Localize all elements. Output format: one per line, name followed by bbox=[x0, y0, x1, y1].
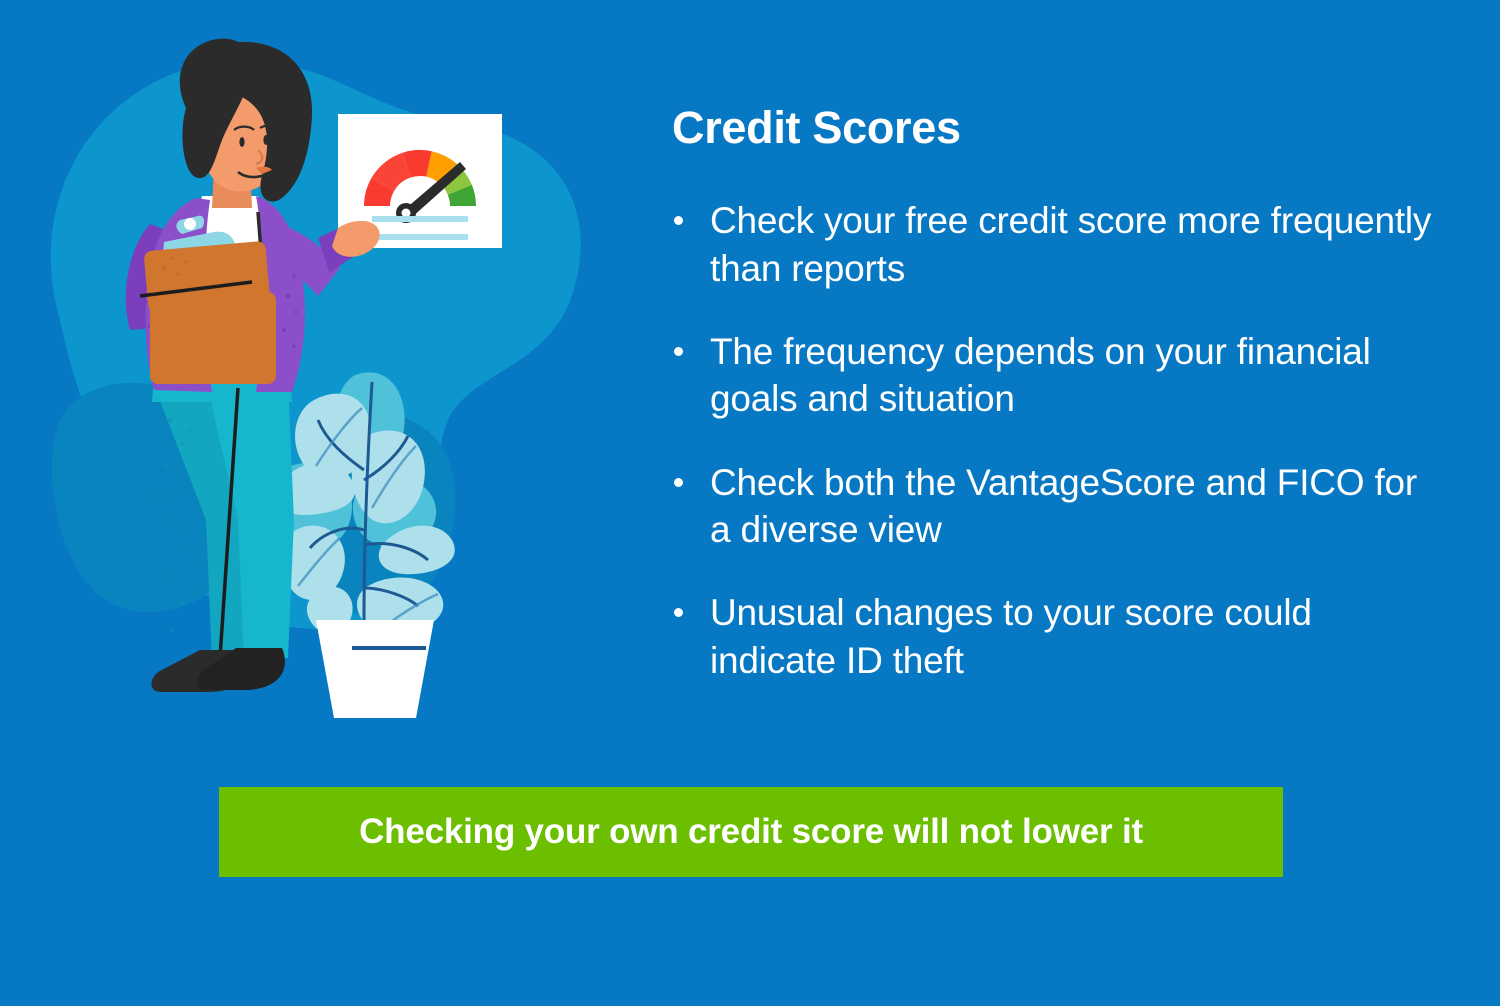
page-title: Credit Scores bbox=[672, 104, 1440, 151]
bullet-dot-icon bbox=[674, 478, 683, 487]
callout-text: Checking your own credit score will not … bbox=[359, 812, 1143, 852]
bullet-dot-icon bbox=[674, 608, 683, 617]
bullet-dot-icon bbox=[674, 216, 683, 225]
bullet-text: Check both the VantageScore and FICO for… bbox=[710, 462, 1417, 550]
bullet-text: Unusual changes to your score could indi… bbox=[710, 592, 1312, 680]
eye-left bbox=[239, 137, 244, 147]
list-item: The frequency depends on your financial … bbox=[660, 328, 1440, 423]
plant-pot bbox=[316, 620, 434, 718]
bullet-text: The frequency depends on your financial … bbox=[710, 331, 1371, 419]
clipboard-lower-board bbox=[150, 292, 276, 384]
bullet-dot-icon bbox=[674, 347, 683, 356]
illustration-woman-credit-score bbox=[0, 0, 640, 760]
list-item: Check your free credit score more freque… bbox=[660, 197, 1440, 292]
eye-right bbox=[263, 135, 268, 145]
clipboard-clip-hole bbox=[184, 218, 196, 230]
list-item: Unusual changes to your score could indi… bbox=[660, 589, 1440, 684]
list-item: Check both the VantageScore and FICO for… bbox=[660, 459, 1440, 554]
text-content-column: Credit Scores Check your free credit sco… bbox=[660, 104, 1440, 684]
callout-banner: Checking your own credit score will not … bbox=[219, 787, 1283, 877]
pot-rim-line bbox=[352, 646, 426, 650]
bullet-list: Check your free credit score more freque… bbox=[660, 197, 1440, 684]
infographic-canvas: Credit Scores Check your free credit sco… bbox=[0, 0, 1500, 1006]
bullet-text: Check your free credit score more freque… bbox=[710, 200, 1431, 288]
report-line-2 bbox=[372, 234, 468, 240]
report-line-1 bbox=[372, 216, 468, 222]
